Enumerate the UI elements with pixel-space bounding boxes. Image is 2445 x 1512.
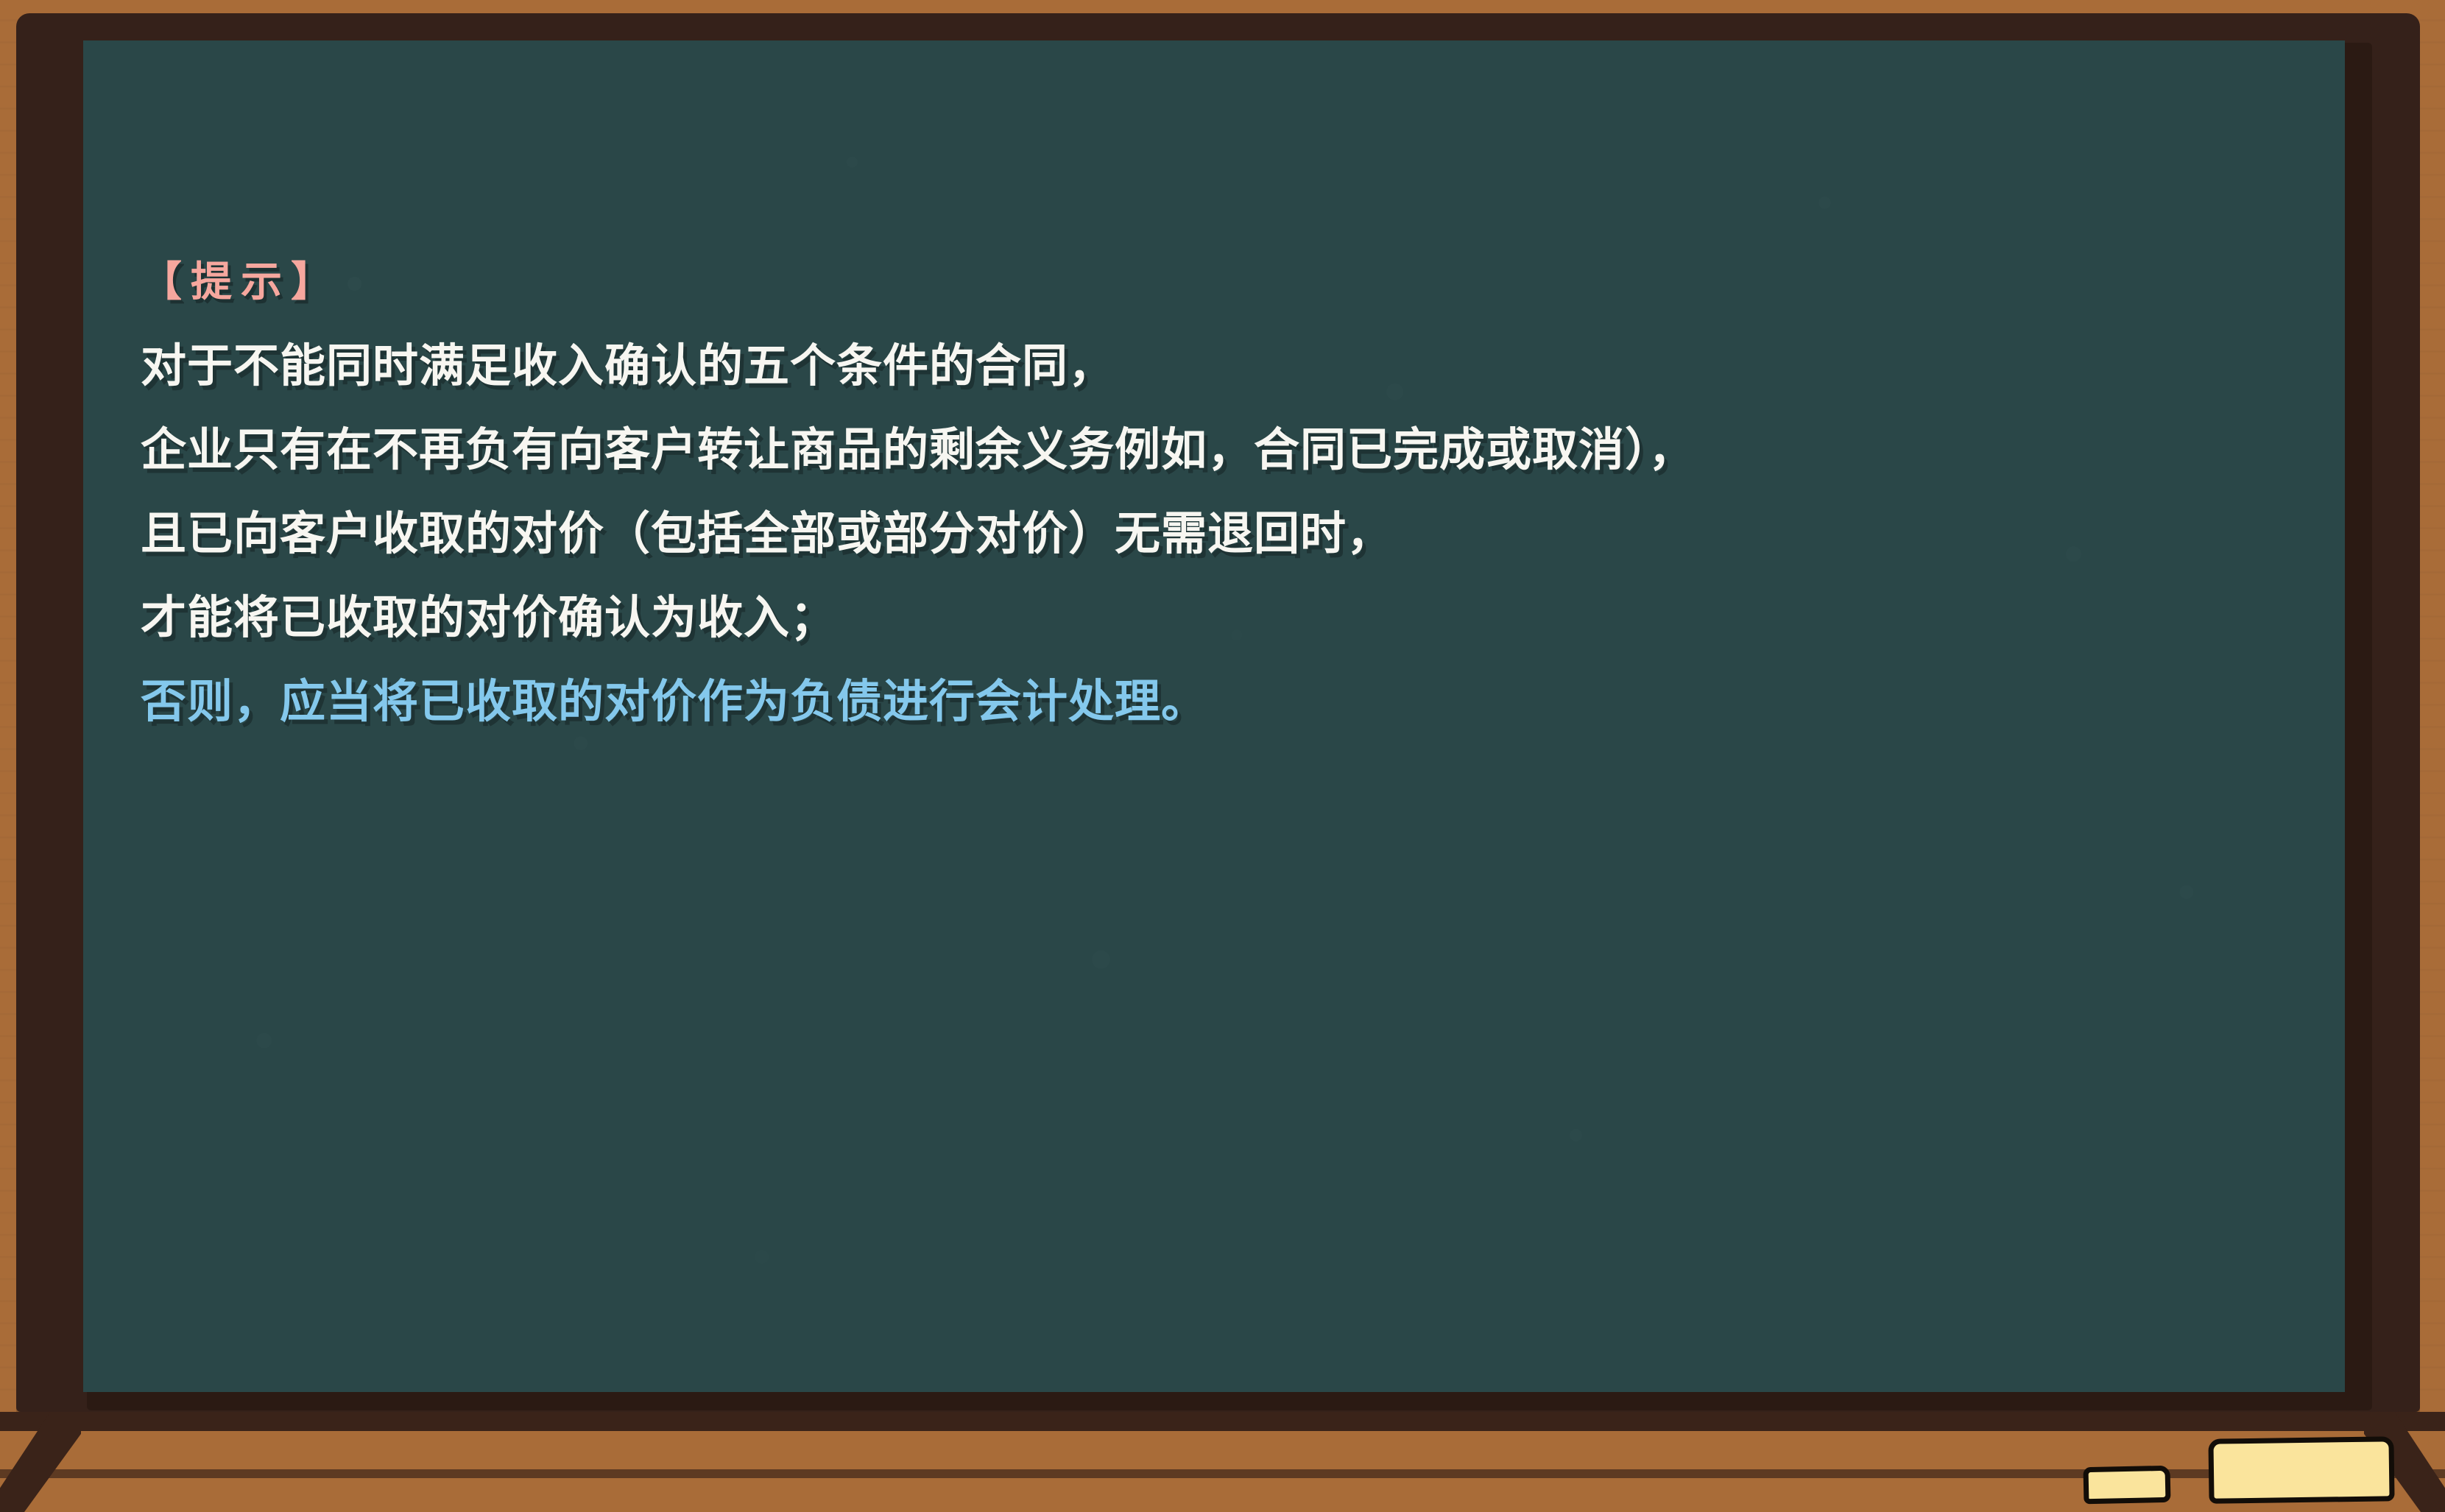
chalk-ledge — [0, 1412, 2445, 1512]
ledge-shadow — [0, 1412, 2445, 1431]
lesson-note-block: 【提示】 对于不能同时满足收入确认的五个条件的合同， 企业只有在不再负有向客户转… — [141, 261, 2315, 725]
note-line-1: 对于不能同时满足收入确认的五个条件的合同， — [141, 344, 2315, 389]
chalkboard-scene: 【提示】 对于不能同时满足收入确认的五个条件的合同， 企业只有在不再负有向客户转… — [0, 0, 2445, 1512]
ledge-base — [0, 1478, 2445, 1512]
ledge-lip — [0, 1469, 2445, 1478]
note-line-5: 否则，应当将已收取的对价作为负债进行会计处理。 — [141, 679, 2315, 725]
chalk-piece-small[interactable] — [2083, 1466, 2170, 1504]
blackboard-surface: 【提示】 对于不能同时满足收入确认的五个条件的合同， 企业只有在不再负有向客户转… — [83, 40, 2345, 1392]
note-title: 【提示】 — [141, 261, 2315, 303]
note-line-3: 且已向客户收取的对价（包括全部或部分对价）无需退回时， — [141, 512, 2315, 557]
note-line-2: 企业只有在不再负有向客户转让商品的剩余义务例如，合同已完成或取消）， — [141, 428, 2315, 473]
note-line-4: 才能将已收取的对价确认为收入； — [141, 596, 2315, 641]
chalk-piece-large[interactable] — [2208, 1436, 2394, 1504]
